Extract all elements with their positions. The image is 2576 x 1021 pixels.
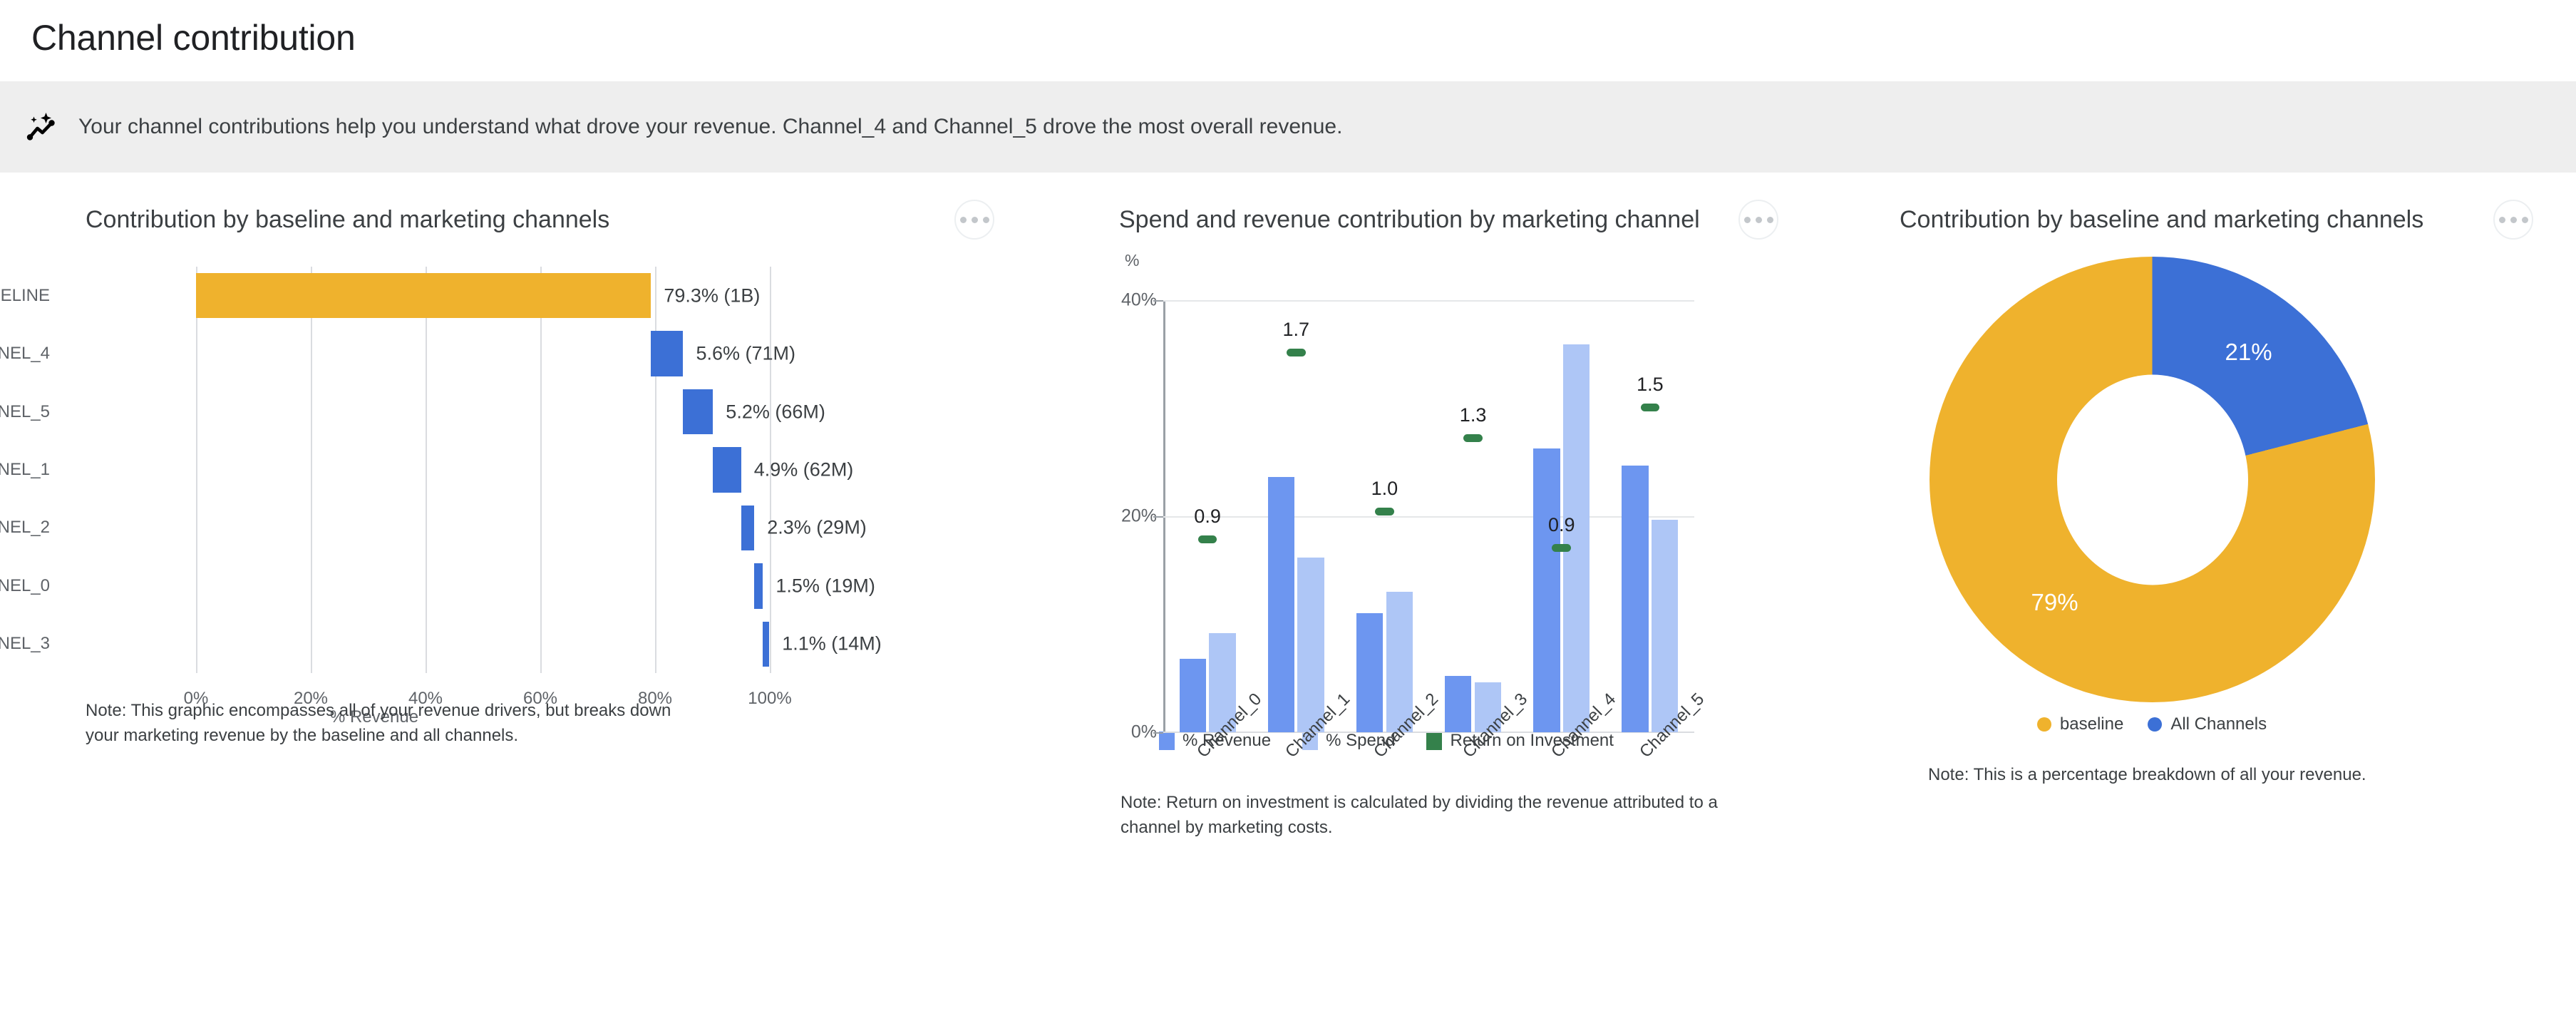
roi-marker[interactable] (1641, 404, 1660, 411)
insight-banner: Your channel contributions help you unde… (0, 81, 2576, 173)
grouped-bar-spend[interactable] (1297, 558, 1324, 732)
legend-swatch-icon (1159, 732, 1175, 750)
panel-donut: Contribution by baseline and marketing c… (1821, 200, 2576, 841)
insights-sparkle-icon (19, 107, 63, 147)
roi-value-label: 1.5 (1637, 374, 1664, 396)
waterfall-category-label: CHANNEL_3 (0, 634, 50, 654)
donut-hole (2057, 374, 2248, 585)
panel-donut-header: Contribution by baseline and marketing c… (1900, 200, 2576, 240)
grouped-bars-unit-label: % (1125, 251, 1821, 270)
grouped-bars-tick-mark (1153, 516, 1163, 518)
waterfall-note: Note: This graphic encompasses all of yo… (86, 699, 699, 749)
roi-value-label: 1.3 (1460, 404, 1487, 426)
waterfall-bar[interactable] (651, 331, 683, 376)
grouped-bars-baseline (1163, 732, 1694, 733)
legend-swatch-icon (1426, 732, 1442, 750)
waterfall-row[interactable] (196, 447, 770, 493)
waterfall-category-label: CHANNEL_1 (0, 460, 50, 480)
panel-grouped-bars-title: Spend and revenue contribution by market… (1119, 206, 1700, 234)
grouped-bars-chart: 0%20%40%0.9Channel_01.7Channel_11.0Chann… (1119, 275, 1746, 731)
panel-donut-title: Contribution by baseline and marketing c… (1900, 206, 2423, 234)
grouped-bar-revenue[interactable] (1268, 477, 1294, 732)
dot-icon (2499, 217, 2505, 223)
waterfall-category-label: CHANNEL_5 (0, 402, 50, 422)
roi-marker[interactable] (1287, 349, 1306, 356)
waterfall-value-label: 5.2% (66M) (726, 401, 825, 423)
donut-more-options-button[interactable] (2493, 200, 2533, 240)
waterfall-value-label: 5.6% (71M) (696, 343, 795, 365)
panel-grouped-bars-header: Spend and revenue contribution by market… (1119, 200, 1821, 240)
grouped-bar-revenue[interactable] (1533, 448, 1560, 732)
waterfall-row[interactable] (196, 389, 770, 435)
waterfall-bar[interactable] (683, 389, 713, 435)
donut-note: Note: This is a percentage breakdown of … (1928, 763, 2541, 788)
grouped-bars-y-tick: 40% (1121, 290, 1157, 311)
panel-grouped-bars: Spend and revenue contribution by market… (1037, 200, 1821, 841)
waterfall-bar[interactable] (763, 622, 769, 667)
charts-row: Contribution by baseline and marketing c… (0, 173, 2576, 841)
dot-icon (983, 217, 989, 223)
panel-waterfall-title: Contribution by baseline and marketing c… (86, 206, 609, 234)
waterfall-chart: 0%20%40%60%80%100%BASELINE79.3% (1B)CHAN… (86, 260, 805, 702)
legend-label: All Channels (2170, 714, 2267, 734)
grouped-bars-y-tick: 20% (1121, 506, 1157, 527)
insight-banner-text: Your channel contributions help you unde… (78, 115, 1342, 139)
donut-legend-item[interactable]: All Channels (2148, 714, 2267, 734)
grouped-bars-more-options-button[interactable] (1738, 200, 1778, 240)
waterfall-more-options-button[interactable] (954, 200, 994, 240)
waterfall-value-label: 79.3% (1B) (664, 284, 760, 307)
dot-icon (972, 217, 978, 223)
grouped-bar-revenue[interactable] (1622, 466, 1648, 732)
waterfall-value-label: 4.9% (62M) (754, 459, 854, 481)
waterfall-bar[interactable] (196, 273, 651, 319)
waterfall-category-label: CHANNEL_2 (0, 518, 50, 538)
waterfall-category-label: CHANNEL_4 (0, 344, 50, 364)
legend-dot-icon (2148, 717, 2162, 732)
grouped-bar-revenue[interactable] (1356, 613, 1383, 732)
dot-icon (2522, 217, 2528, 223)
grouped-bars-note: Note: Return on investment is calculated… (1120, 791, 1733, 841)
legend-dot-icon (2037, 717, 2051, 732)
waterfall-bar[interactable] (754, 563, 763, 609)
waterfall-plot-area: 0%20%40%60%80%100%BASELINE79.3% (1B)CHAN… (196, 267, 770, 673)
donut-ring: 21%79% (1930, 257, 2375, 702)
waterfall-row[interactable] (196, 506, 770, 551)
panel-waterfall: Contribution by baseline and marketing c… (0, 200, 1037, 841)
roi-value-label: 1.7 (1282, 319, 1309, 341)
dot-icon (960, 217, 967, 223)
roi-marker[interactable] (1198, 535, 1217, 543)
waterfall-value-label: 2.3% (29M) (767, 517, 867, 539)
panel-waterfall-header: Contribution by baseline and marketing c… (86, 200, 1037, 240)
roi-value-label: 0.9 (1194, 506, 1221, 528)
donut-legend: baselineAll Channels (1917, 714, 2387, 734)
roi-value-label: 1.0 (1371, 478, 1398, 500)
waterfall-row[interactable] (196, 622, 770, 667)
donut-slice-label: 79% (2031, 589, 2078, 616)
roi-marker[interactable] (1375, 508, 1394, 515)
page-title: Channel contribution (0, 0, 2576, 58)
roi-marker[interactable] (1463, 434, 1483, 442)
grouped-bars-tick-mark (1153, 300, 1163, 302)
waterfall-x-tick: 100% (748, 689, 791, 709)
grouped-bar-spend[interactable] (1563, 344, 1590, 732)
grouped-bar-revenue[interactable] (1180, 659, 1206, 732)
waterfall-value-label: 1.5% (19M) (776, 575, 875, 597)
grouped-bars-plot-area: 0%20%40%0.9Channel_01.7Channel_11.0Chann… (1163, 300, 1694, 732)
dot-icon (2510, 217, 2517, 223)
roi-marker[interactable] (1552, 544, 1571, 552)
dot-icon (1767, 217, 1773, 223)
grouped-bars-tick-mark (1153, 732, 1163, 734)
grouped-bar-spend[interactable] (1652, 520, 1678, 732)
roi-value-label: 0.9 (1548, 514, 1575, 536)
dot-icon (1756, 217, 1762, 223)
grouped-bars-gridline (1163, 300, 1694, 302)
legend-label: baseline (2060, 714, 2123, 734)
waterfall-category-label: CHANNEL_0 (0, 576, 50, 596)
waterfall-row[interactable] (196, 331, 770, 376)
waterfall-row[interactable] (196, 563, 770, 609)
dot-icon (1744, 217, 1751, 223)
waterfall-category-label: BASELINE (0, 286, 50, 306)
donut-legend-item[interactable]: baseline (2037, 714, 2123, 734)
donut-chart: 21%79% baselineAll Channels (1917, 252, 2416, 737)
waterfall-bar[interactable] (713, 447, 741, 493)
waterfall-bar[interactable] (741, 506, 755, 551)
waterfall-value-label: 1.1% (14M) (782, 633, 882, 655)
donut-slice-label: 21% (2225, 339, 2272, 366)
grouped-bar-revenue[interactable] (1445, 676, 1471, 732)
grouped-bars-gridline (1163, 516, 1694, 518)
